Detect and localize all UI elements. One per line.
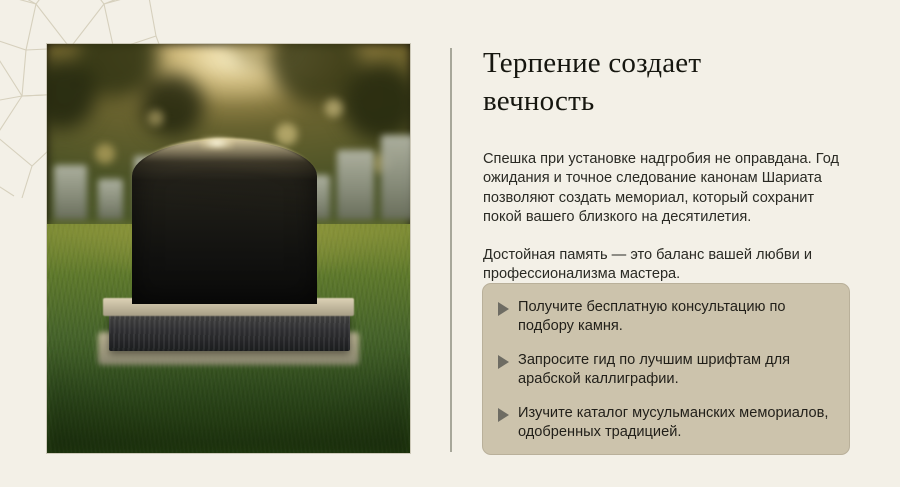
list-item[interactable]: Изучите каталог мусульманских мемориалов… [498,404,831,443]
page-title: Терпение создает вечность [483,44,813,120]
triangle-right-icon [498,355,509,369]
list-item[interactable]: Запросите гид по лучшим шрифтам для араб… [498,351,831,390]
triangle-right-icon [498,302,509,316]
slide-root: Терпение создает вечность Спешка при уст… [0,0,900,487]
body-paragraph-2: Достойная память — это баланс вашей любв… [483,246,855,285]
vertical-divider [450,48,452,452]
cta-item-label: Изучите каталог мусульманских мемориалов… [518,404,831,443]
cta-item-label: Запросите гид по лучшим шрифтам для араб… [518,351,831,390]
photo-canvas [47,44,410,453]
photo-vignette [47,44,410,453]
headstone-photo [47,44,410,453]
body-paragraph-1: Спешка при установке надгробия не оправд… [483,150,855,228]
text-column: Терпение создает вечность Спешка при уст… [483,44,863,284]
triangle-right-icon [498,408,509,422]
cta-list: Получите бесплатную консультацию по подб… [498,298,831,442]
list-item[interactable]: Получите бесплатную консультацию по подб… [498,298,831,337]
cta-card: Получите бесплатную консультацию по подб… [482,283,850,455]
cta-item-label: Получите бесплатную консультацию по подб… [518,298,831,337]
